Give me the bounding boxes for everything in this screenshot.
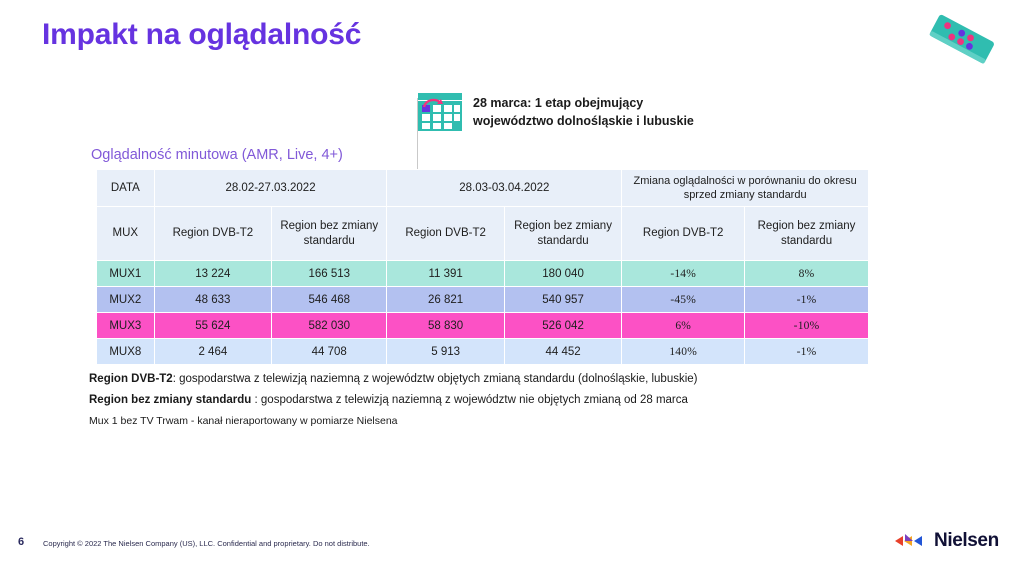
viewership-table-wrapper: DATA 28.02-27.03.2022 28.03-03.04.2022 Z… [96,169,869,365]
cell-p2-bez: 540 957 [504,287,621,313]
cell-mux: MUX2 [97,287,155,313]
header-p1-bez-zmiany: Region bez zmiany standardu [272,207,387,261]
cell-p2-bez: 526 042 [504,313,621,339]
header-period-1: 28.02-27.03.2022 [154,170,387,207]
footnote-2-text: : gospodarstwa z telewizją naziemną z wo… [251,394,688,406]
header-p1-dvbt2: Region DVB-T2 [154,207,271,261]
cell-p2-dvbt2: 58 830 [387,313,504,339]
page-title: Impakt na oglądalność [42,18,361,52]
footnote-1-term: Region DVB-T2 [89,373,173,385]
cell-change-bez: -1% [745,287,869,313]
cell-change-dvbt2: 6% [622,313,745,339]
cell-p2-dvbt2: 26 821 [387,287,504,313]
nielsen-logo: Nielsen [893,530,999,552]
cell-change-bez: -10% [745,313,869,339]
cell-p1-bez: 166 513 [272,261,387,287]
callout-text: 28 marca: 1 etap obejmujący województwo … [473,94,694,130]
footnote-2-term: Region bez zmiany standardu [89,394,251,406]
remote-control-decoration [921,8,1003,70]
cell-mux: MUX8 [97,339,155,365]
callout-annotation: 28 marca: 1 etap obejmujący województwo … [416,91,694,133]
callout-line-1: 28 marca: 1 etap obejmujący [473,94,694,112]
calendar-icon [416,91,464,133]
cell-p2-dvbt2: 11 391 [387,261,504,287]
cell-p1-dvbt2: 55 624 [154,313,271,339]
cell-p1-bez: 546 468 [272,287,387,313]
cell-p1-bez: 44 708 [272,339,387,365]
cell-p1-bez: 582 030 [272,313,387,339]
table-row: MUX1 13 224 166 513 11 391 180 040 -14% … [97,261,869,287]
footnote-1-text: : gospodarstwa z telewizją naziemną z wo… [173,373,698,385]
cell-change-bez: 8% [745,261,869,287]
footnote-3: Mux 1 bez TV Trwam - kanał nieraportowan… [89,415,889,427]
table-row: MUX3 55 624 582 030 58 830 526 042 6% -1… [97,313,869,339]
header-period-2: 28.03-03.04.2022 [387,170,622,207]
copyright-text: Copyright © 2022 The Nielsen Company (US… [43,539,370,548]
nielsen-wordmark: Nielsen [934,530,999,552]
footnotes: Region DVB-T2: gospodarstwa z telewizją … [89,373,889,427]
cell-change-dvbt2: -45% [622,287,745,313]
cell-p1-dvbt2: 13 224 [154,261,271,287]
cell-p1-dvbt2: 2 464 [154,339,271,365]
header-data-label: DATA [97,170,155,207]
cell-p2-bez: 44 452 [504,339,621,365]
footnote-1: Region DVB-T2: gospodarstwa z telewizją … [89,373,889,385]
table-header-row-2: MUX Region DVB-T2 Region bez zmiany stan… [97,207,869,261]
header-change: Zmiana oglądalności w porównaniu do okre… [622,170,869,207]
header-change-bez-zmiany: Region bez zmiany standardu [745,207,869,261]
table-subtitle: Oglądalność minutowa (AMR, Live, 4+) [91,147,343,163]
header-p2-dvbt2: Region DVB-T2 [387,207,504,261]
table-header-row-1: DATA 28.02-27.03.2022 28.03-03.04.2022 Z… [97,170,869,207]
nielsen-logo-mark [893,532,927,550]
cell-p1-dvbt2: 48 633 [154,287,271,313]
page-number: 6 [18,536,24,548]
cell-mux: MUX1 [97,261,155,287]
table-row: MUX2 48 633 546 468 26 821 540 957 -45% … [97,287,869,313]
cell-change-dvbt2: -14% [622,261,745,287]
header-change-dvbt2: Region DVB-T2 [622,207,745,261]
header-p2-bez-zmiany: Region bez zmiany standardu [504,207,621,261]
table-row: MUX8 2 464 44 708 5 913 44 452 140% -1% [97,339,869,365]
callout-line-2: województwo dolnośląskie i lubuskie [473,112,694,130]
cell-p2-dvbt2: 5 913 [387,339,504,365]
cell-mux: MUX3 [97,313,155,339]
cell-change-bez: -1% [745,339,869,365]
footer-divider [0,519,1018,520]
footnote-2: Region bez zmiany standardu : gospodarst… [89,394,889,406]
slide-canvas: Impakt na oglądalność [0,0,1018,568]
cell-p2-bez: 180 040 [504,261,621,287]
header-mux-label: MUX [97,207,155,261]
cell-change-dvbt2: 140% [622,339,745,365]
viewership-table: DATA 28.02-27.03.2022 28.03-03.04.2022 Z… [96,169,869,365]
